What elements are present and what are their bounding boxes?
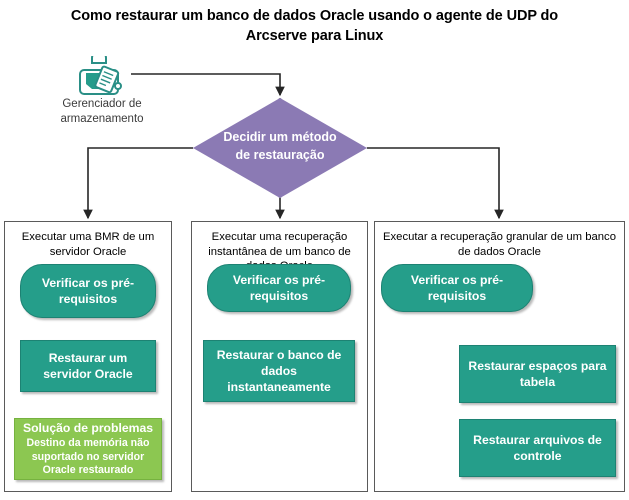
decision-label: Decidir um método de restauração xyxy=(215,128,345,164)
decision-node[interactable]: Decidir um método de restauração xyxy=(193,98,367,198)
node-bmr-troubleshooting[interactable]: Solução de problemas Destino da memória … xyxy=(14,418,162,480)
flowchart-canvas: Como restaurar um banco de dados Oracle … xyxy=(0,0,629,500)
node-bmr-restore-server[interactable]: Restaurar um servidor Oracle xyxy=(20,340,156,392)
node-bmr-prerequisites[interactable]: Verificar os pré-requisitos xyxy=(20,264,156,318)
column-header-bmr: Executar uma BMR de um servidor Oracle xyxy=(5,230,171,259)
actor-label: Gerenciador de armazenamento xyxy=(46,97,158,127)
troubleshooting-subtitle: Destino da memória não suportado no serv… xyxy=(21,437,155,478)
node-instant-prerequisites[interactable]: Verificar os pré-requisitos xyxy=(207,264,351,312)
page-title: Como restaurar um banco de dados Oracle … xyxy=(40,6,589,46)
node-restore-control-files[interactable]: Restaurar arquivos de controle xyxy=(459,419,616,477)
node-instant-restore-database[interactable]: Restaurar o banco de dados instantaneame… xyxy=(203,340,355,402)
column-header-granular-recovery: Executar a recuperação granular de um ba… xyxy=(375,230,624,259)
troubleshooting-title: Solução de problemas xyxy=(23,420,153,437)
node-granular-prerequisites[interactable]: Verificar os pré-requisitos xyxy=(381,264,533,312)
storage-manager-icon xyxy=(72,56,130,96)
node-restore-tablespaces[interactable]: Restaurar espaços para tabela xyxy=(459,345,616,403)
